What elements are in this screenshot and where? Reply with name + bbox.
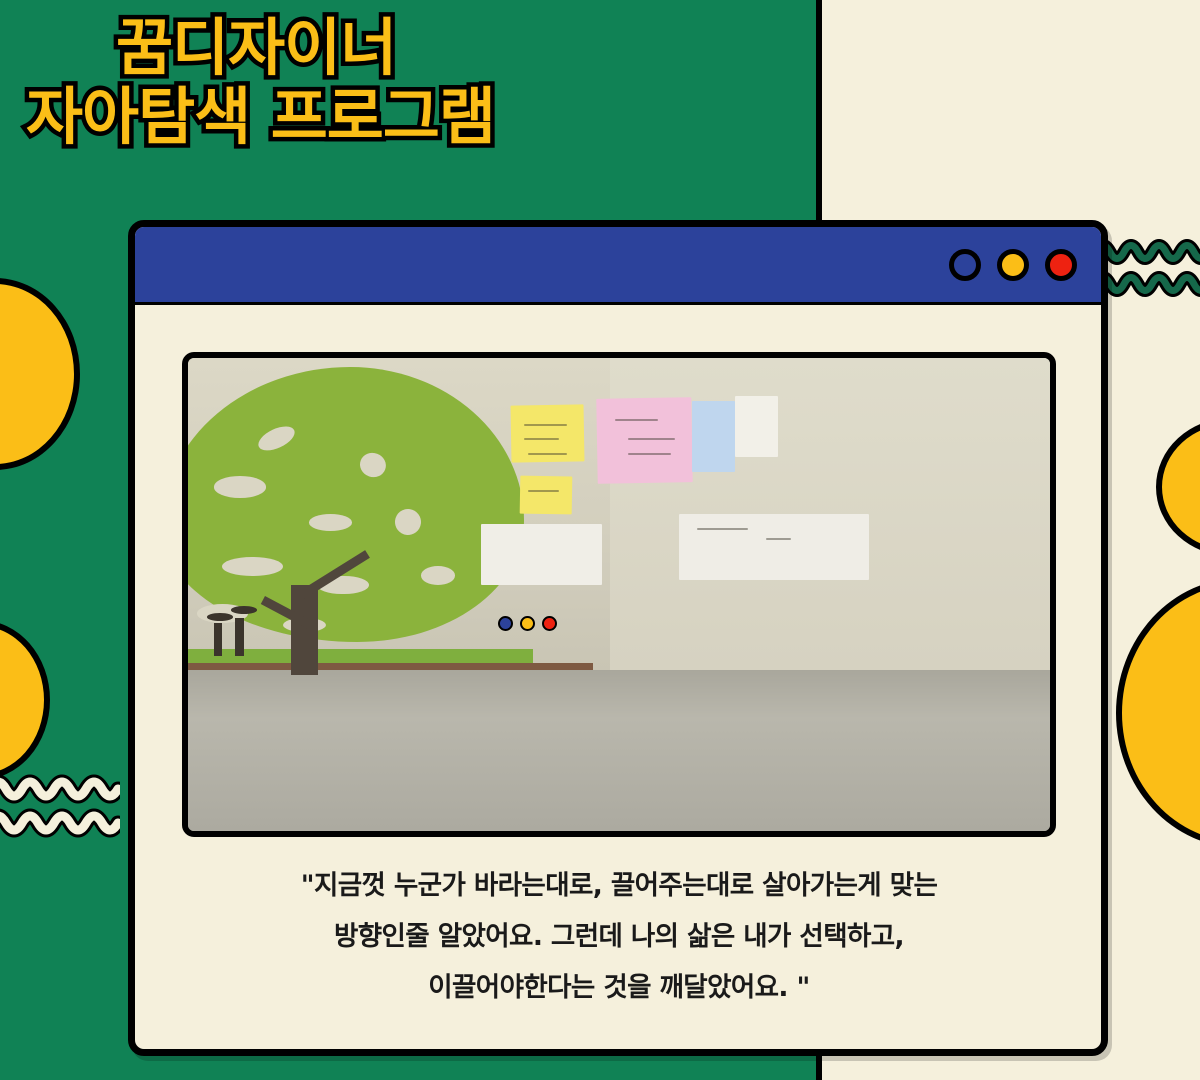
photo-dot-blue	[498, 616, 513, 631]
photo-watermark-dots	[498, 616, 557, 631]
browser-window: "지금껏 누군가 바라는대로, 끌어주는대로 살아가는게 맞는 방향인줄 알았어…	[128, 220, 1108, 1056]
window-dot-red[interactable]	[1045, 249, 1077, 281]
sticky-note	[692, 401, 735, 472]
whiteboard-paper	[481, 524, 602, 585]
quote-line-2: 방향인줄 알았어요. 그런데 나의 삶은 내가 선택하고,	[182, 912, 1056, 963]
mural-plant-stem	[214, 623, 223, 656]
mural-leaf-gap	[214, 476, 266, 497]
wave-left-cream	[0, 772, 120, 844]
mural-plant-leaf	[231, 606, 257, 614]
poster-headline: 꿈디자이너 자아탐색 프로그램	[14, 18, 804, 148]
headline-line-1: 꿈디자이너	[14, 18, 804, 79]
sticky-note	[520, 476, 572, 515]
photo-dot-yellow	[520, 616, 535, 631]
mural-plant-leaf	[207, 613, 233, 621]
quote-line-3: 이끌어야한다는 것을 깨달았어요. "	[182, 963, 1056, 1014]
window-dot-blue[interactable]	[949, 249, 981, 281]
sticky-note	[735, 396, 778, 457]
sticky-note	[597, 397, 693, 484]
mural-leaf-gap	[421, 566, 455, 585]
window-dot-yellow[interactable]	[997, 249, 1029, 281]
wave-right-green	[1096, 236, 1200, 306]
window-titlebar	[135, 227, 1101, 305]
classroom-floor	[188, 670, 1050, 831]
headline-line-2: 자아탐색 프로그램	[14, 87, 804, 148]
window-content: "지금껏 누군가 바라는대로, 끌어주는대로 살아가는게 맞는 방향인줄 알았어…	[135, 305, 1101, 1014]
whiteboard-paper	[679, 514, 869, 580]
mural-plant-stem	[235, 618, 244, 656]
photo-dot-red	[542, 616, 557, 631]
testimonial-quote: "지금껏 누군가 바라는대로, 끌어주는대로 살아가는게 맞는 방향인줄 알았어…	[182, 861, 1056, 1014]
group-photo	[182, 352, 1056, 837]
group-photo-image	[188, 358, 1050, 831]
poster-canvas: 꿈디자이너 자아탐색 프로그램	[0, 0, 1200, 1080]
quote-line-1: "지금껏 누군가 바라는대로, 끌어주는대로 살아가는게 맞는	[182, 861, 1056, 912]
